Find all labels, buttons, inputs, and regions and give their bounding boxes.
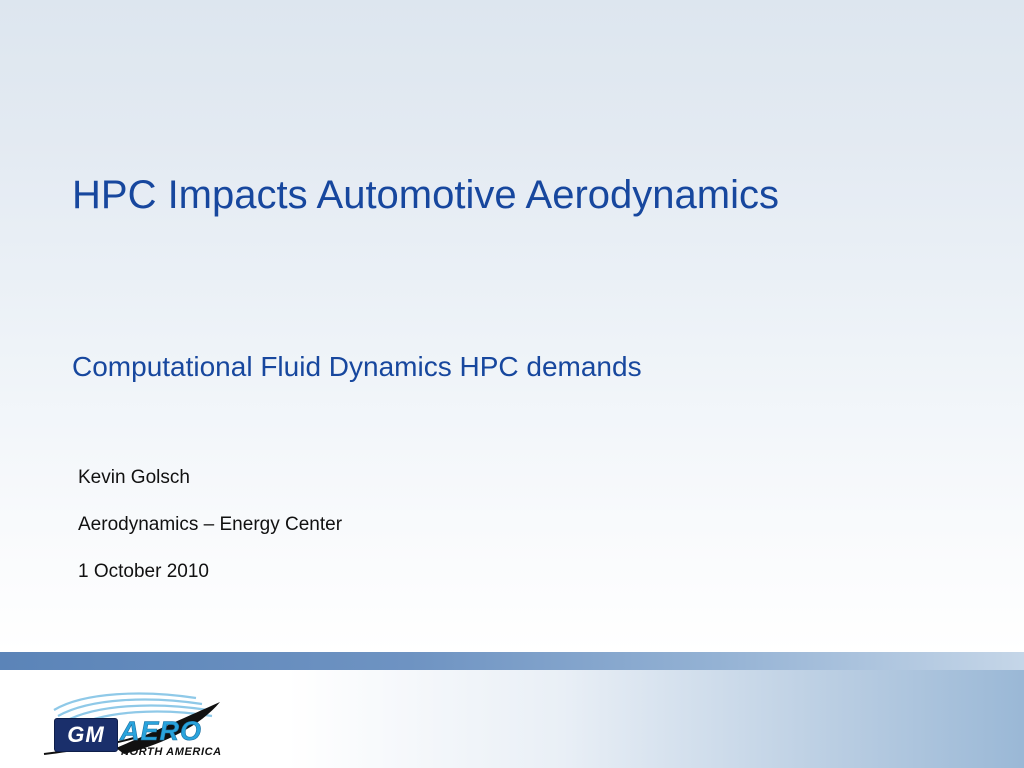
footer-divider-bar <box>0 652 1024 670</box>
author-block: Kevin Golsch Aerodynamics – Energy Cente… <box>78 468 778 609</box>
gm-aero-logo: GM AERO NORTH AMERICA <box>24 676 274 762</box>
author-name: Kevin Golsch <box>78 468 778 487</box>
aero-wordmark: AERO <box>120 716 202 747</box>
presentation-slide: HPC Impacts Automotive Aerodynamics Comp… <box>0 0 1024 768</box>
slide-subtitle: Computational Fluid Dynamics HPC demands <box>72 348 952 386</box>
gm-badge: GM <box>54 718 118 752</box>
gm-badge-label: GM <box>55 719 117 751</box>
presentation-date: 1 October 2010 <box>78 562 778 581</box>
region-label: NORTH AMERICA <box>121 746 222 758</box>
page-title: HPC Impacts Automotive Aerodynamics <box>72 170 932 221</box>
title-block: HPC Impacts Automotive Aerodynamics <box>72 170 932 221</box>
author-department: Aerodynamics – Energy Center <box>78 515 778 534</box>
